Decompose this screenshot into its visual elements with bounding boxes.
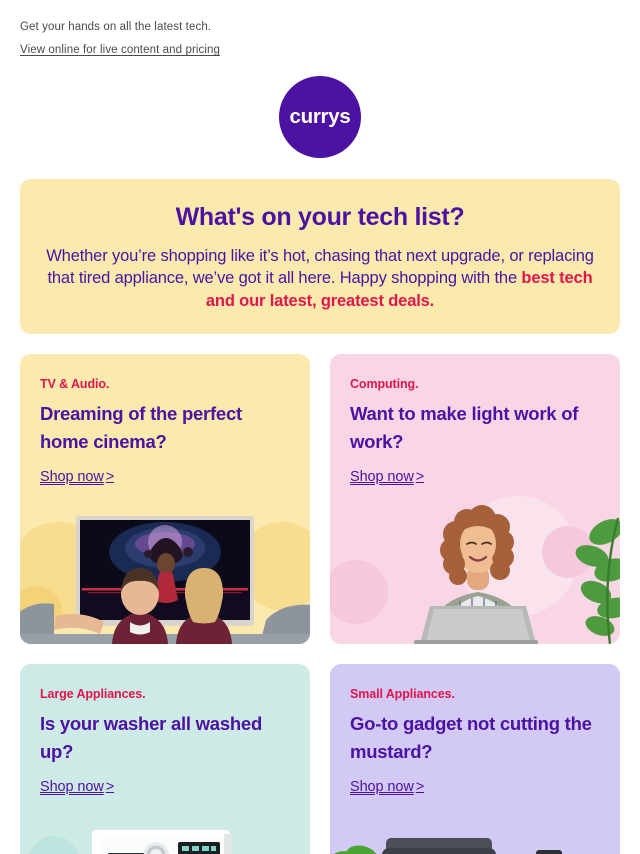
view-online-link[interactable]: View online for live content and pricing bbox=[20, 44, 220, 56]
woman-with-laptop-image bbox=[330, 494, 620, 644]
card-eyebrow: Computing. bbox=[350, 377, 600, 391]
shop-now-link[interactable]: Shop now> bbox=[350, 469, 424, 485]
chevron-right-icon: > bbox=[414, 469, 424, 485]
category-card-small-appliances[interactable]: Small Appliances. Go-to gadget not cutti… bbox=[330, 664, 620, 854]
chevron-right-icon: > bbox=[414, 779, 424, 795]
card-heading: Go-to gadget not cutting the mustard? bbox=[350, 710, 600, 766]
shop-now-label: Shop now bbox=[40, 469, 104, 485]
card-heading: Want to make light work of work? bbox=[350, 400, 600, 456]
shop-now-link[interactable]: Shop now> bbox=[40, 469, 114, 485]
shop-now-link[interactable]: Shop now> bbox=[40, 779, 114, 795]
currys-logo[interactable]: currys bbox=[279, 76, 361, 158]
card-copy: Computing. Want to make light work of wo… bbox=[330, 354, 620, 486]
category-card-grid: TV & Audio. Dreaming of the perfect home… bbox=[0, 334, 640, 854]
shop-now-label: Shop now bbox=[40, 779, 104, 795]
card-eyebrow: Small Appliances. bbox=[350, 687, 600, 701]
currys-wordmark: currys bbox=[290, 107, 351, 128]
chevron-right-icon: > bbox=[104, 779, 114, 795]
card-heading: Is your washer all washed up? bbox=[40, 710, 290, 766]
shop-now-label: Shop now bbox=[350, 779, 414, 795]
card-heading: Dreaming of the perfect home cinema? bbox=[40, 400, 290, 456]
card-copy: Large Appliances. Is your washer all was… bbox=[20, 664, 310, 796]
washing-machine-image bbox=[20, 804, 310, 854]
preheader: Get your hands on all the latest tech. V… bbox=[0, 0, 640, 58]
card-eyebrow: TV & Audio. bbox=[40, 377, 290, 391]
card-eyebrow: Large Appliances. bbox=[40, 687, 290, 701]
card-copy: TV & Audio. Dreaming of the perfect home… bbox=[20, 354, 310, 486]
category-card-tv-audio[interactable]: TV & Audio. Dreaming of the perfect home… bbox=[20, 354, 310, 644]
shop-now-label: Shop now bbox=[350, 469, 414, 485]
hero-banner: What's on your tech list? Whether you’re… bbox=[20, 179, 620, 334]
chevron-right-icon: > bbox=[104, 469, 114, 485]
hero-body-text: Whether you’re shopping like it’s hot, c… bbox=[46, 247, 594, 287]
card-copy: Small Appliances. Go-to gadget not cutti… bbox=[330, 664, 620, 796]
shop-now-link[interactable]: Shop now> bbox=[350, 779, 424, 795]
air-fryer-coffee-machine-image bbox=[330, 804, 620, 854]
category-card-large-appliances[interactable]: Large Appliances. Is your washer all was… bbox=[20, 664, 310, 854]
preheader-text: Get your hands on all the latest tech. bbox=[20, 20, 620, 35]
brand-logo-row: currys bbox=[0, 58, 640, 179]
category-card-computing[interactable]: Computing. Want to make light work of wo… bbox=[330, 354, 620, 644]
tv-lounge-image bbox=[20, 494, 310, 644]
hero-title: What's on your tech list? bbox=[42, 203, 598, 232]
hero-body: Whether you’re shopping like it’s hot, c… bbox=[42, 245, 598, 312]
